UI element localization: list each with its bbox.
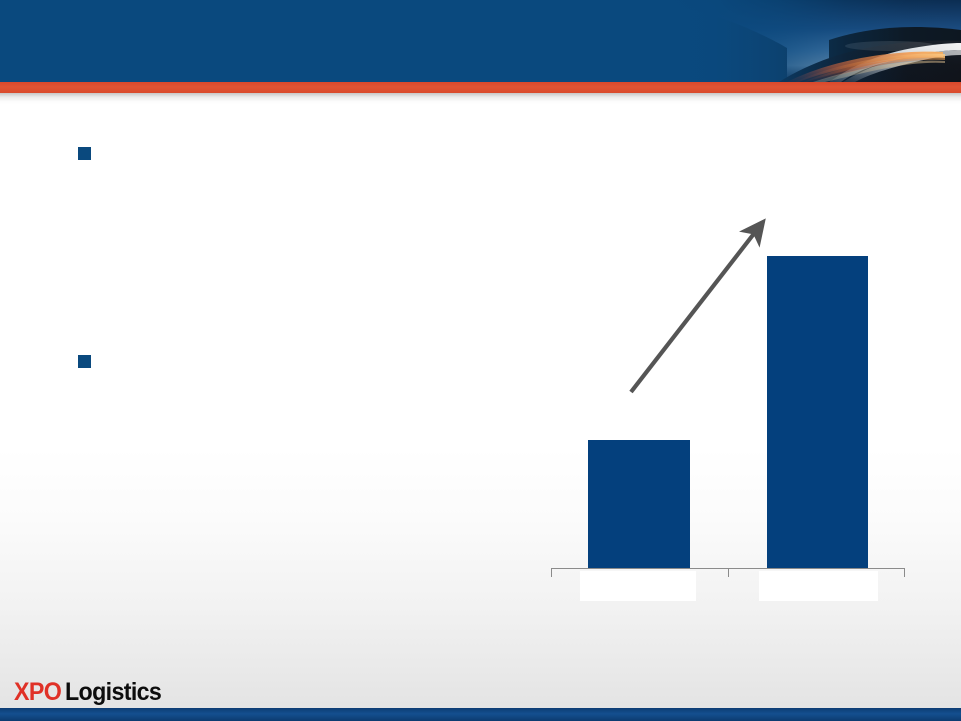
square-bullet-icon: [78, 355, 91, 368]
logo-xpo-text: XPO: [14, 678, 61, 706]
footer-bar: [0, 708, 961, 721]
logo-logistics-text: Logistics: [65, 678, 161, 706]
square-bullet-icon: [78, 147, 91, 160]
header-photo-fade-overlay: [661, 0, 961, 82]
list-item: [78, 352, 498, 378]
x-axis-tick-1: [728, 568, 729, 577]
content-bullet-list: [0, 0, 520, 600]
x-axis-label-0: [580, 571, 696, 601]
bar-chart: [540, 200, 940, 620]
x-axis-label-1: [759, 571, 878, 601]
bar-series-0-category-1: [767, 256, 868, 568]
header-highway-photo: [661, 0, 961, 82]
x-axis-tick-0: [551, 568, 552, 577]
x-axis-tick-2: [904, 568, 905, 577]
xpo-logistics-logo: XPOLogistics: [14, 678, 168, 706]
chart-plot-area: [540, 200, 940, 620]
bar-series-0-category-0: [588, 440, 690, 568]
presentation-slide: XPOLogistics: [0, 0, 961, 721]
list-item: [78, 144, 498, 170]
